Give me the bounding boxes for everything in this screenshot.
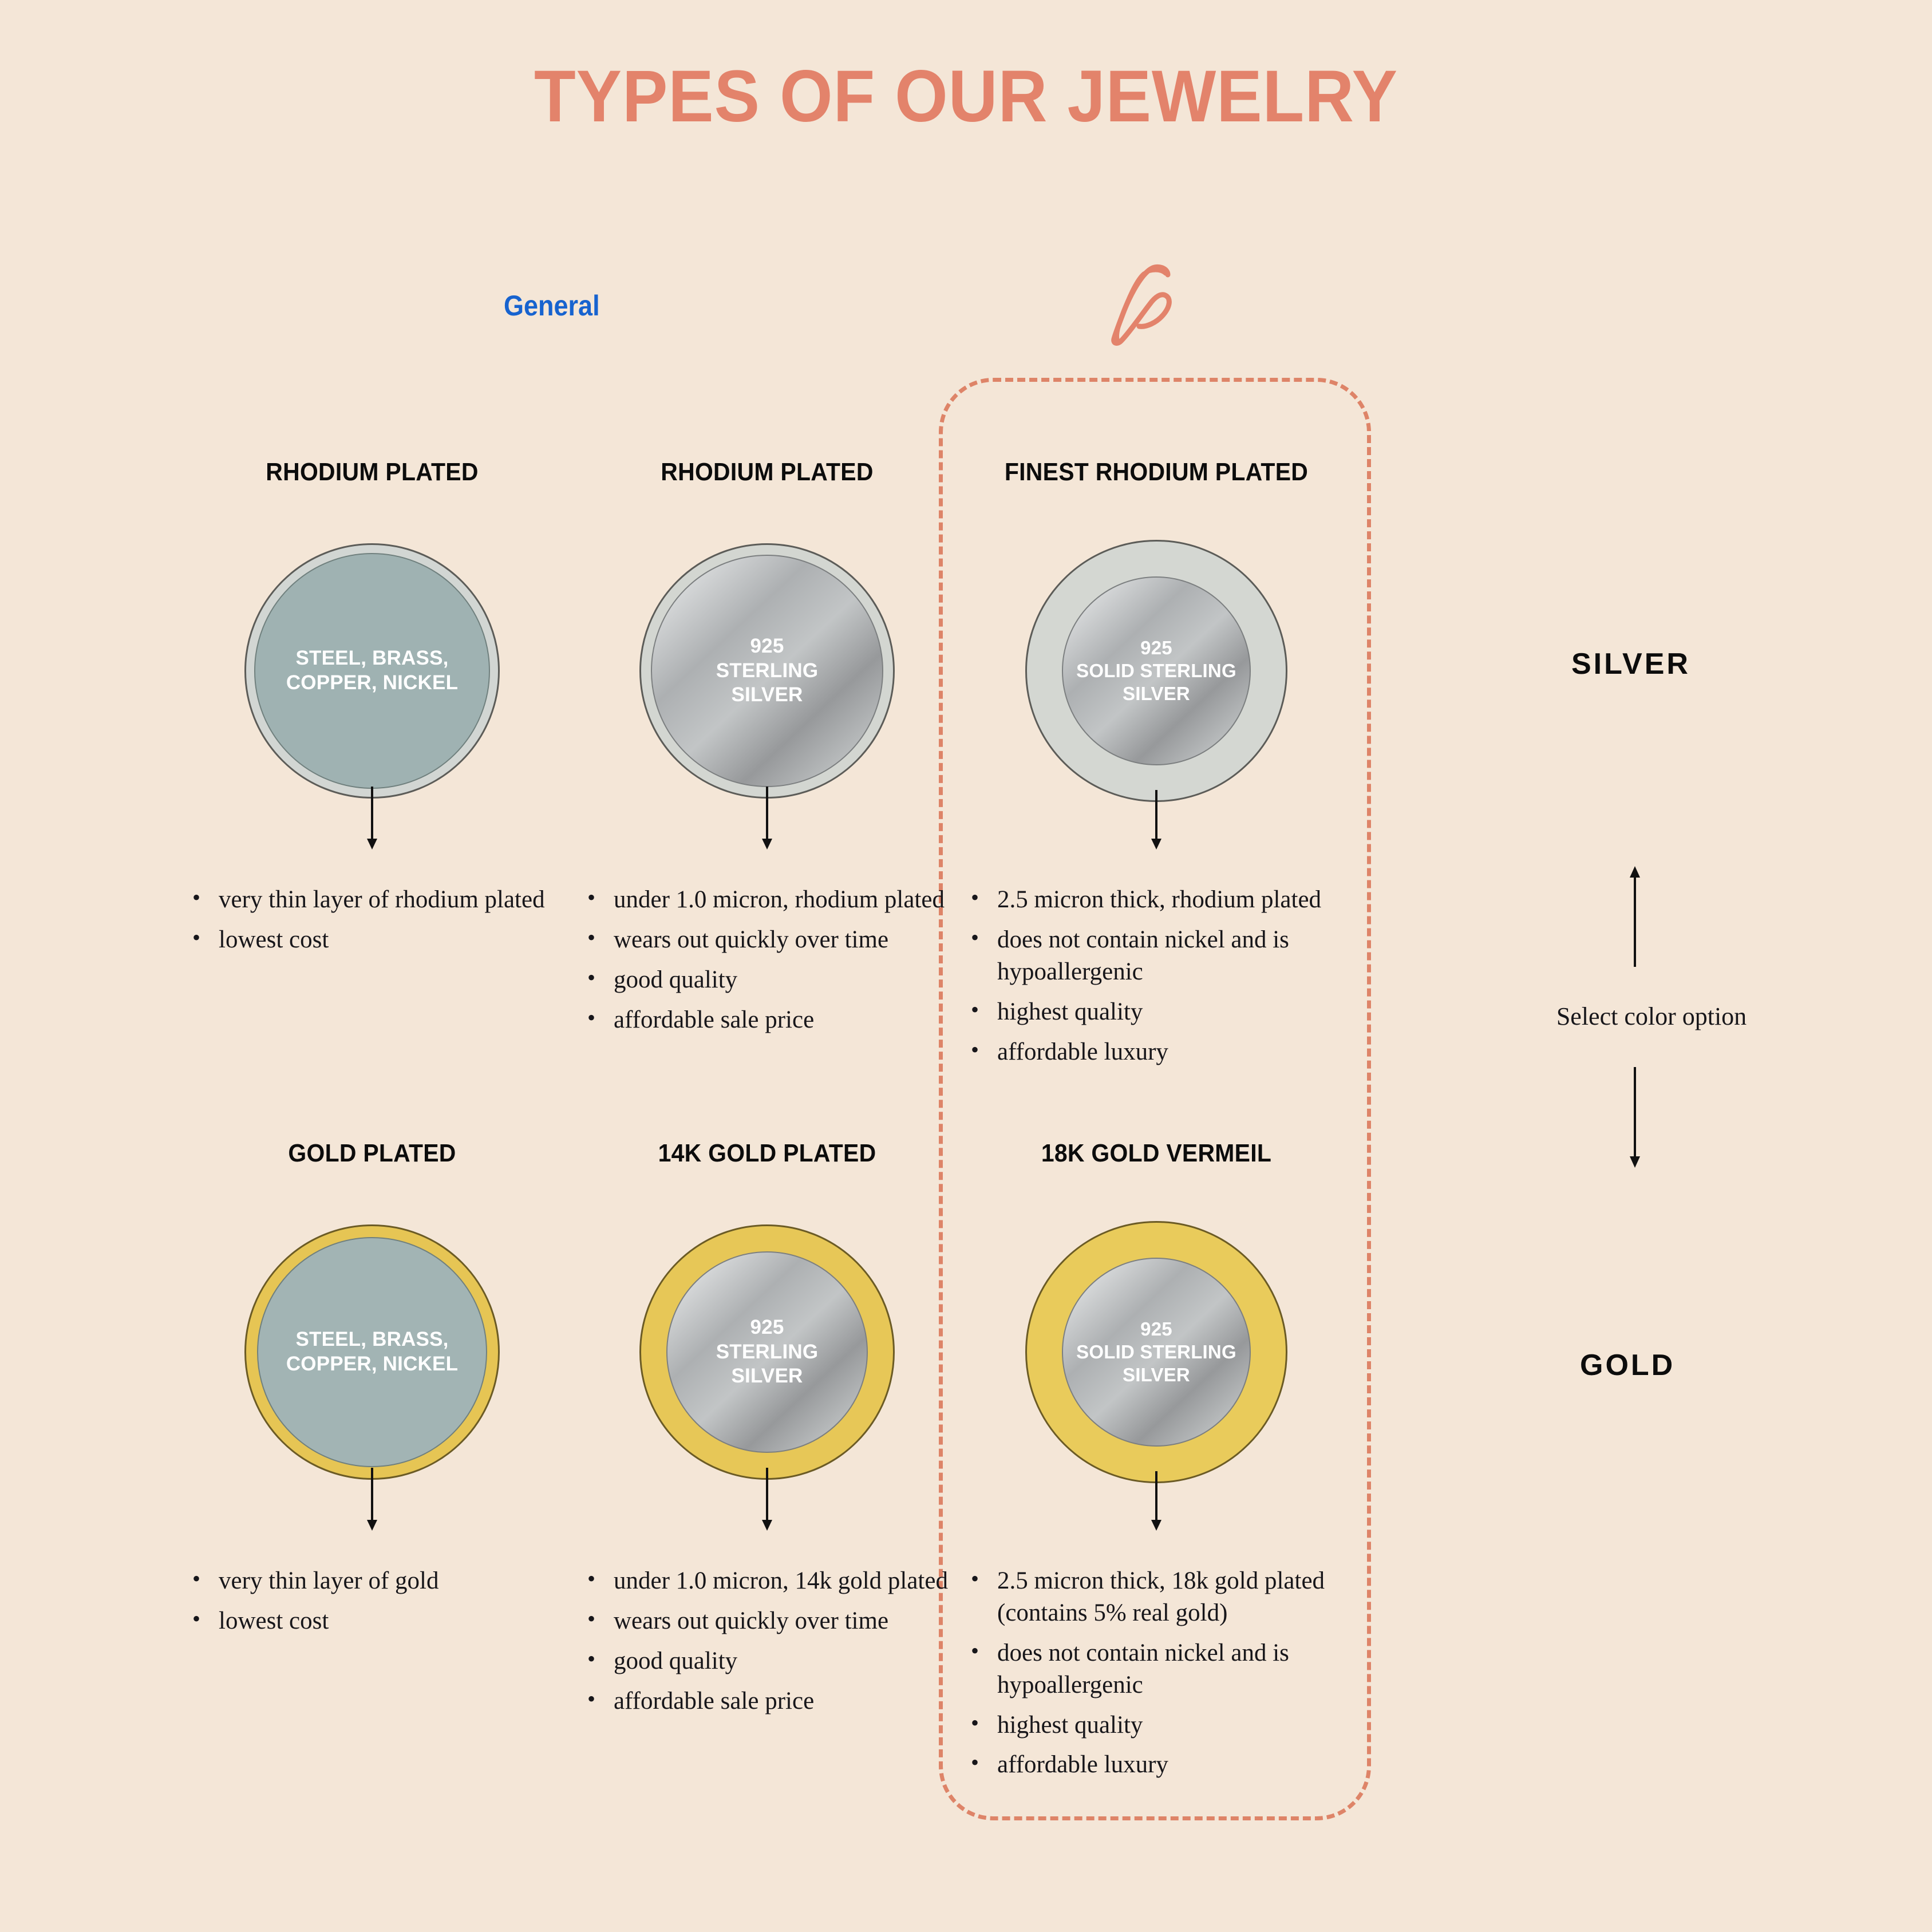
gold-plating-ring: 925 SOLID STERLING SILVER <box>1025 1221 1287 1483</box>
card-title: GOLD PLATED <box>202 1139 542 1168</box>
rhodium-plating-ring: 925 STERLING SILVER <box>639 543 895 799</box>
solid-sterling-silver-core: 925 SOLID STERLING SILVER <box>1062 1258 1251 1447</box>
connector-arrow-icon <box>756 1468 779 1535</box>
list-item: lowest cost <box>189 1605 555 1637</box>
card-general-rhodium-plated: RHODIUM PLATED STEEL, BRASS, COPPER, NIC… <box>189 458 555 964</box>
list-item: 2.5 micron thick, rhodium plated <box>967 884 1345 916</box>
base-metal-core: STEEL, BRASS, COPPER, NICKEL <box>254 553 490 789</box>
list-item: under 1.0 micron, rhodium plated <box>584 884 950 916</box>
card-general-14k-gold-plated: 14K GOLD PLATED 925 STERLING SILVER <box>584 1139 950 1725</box>
gold-plating-ring: 925 STERLING SILVER <box>639 1224 895 1480</box>
list-item: wears out quickly over time <box>584 1605 950 1637</box>
core-label: STEEL, BRASS, COPPER, NICKEL <box>286 646 458 695</box>
card-general-rhodium-plated-925: RHODIUM PLATED 925 STERLING SILVER <box>584 458 950 1044</box>
list-item: highest quality <box>967 1709 1345 1741</box>
feature-list: 2.5 micron thick, 18k gold plated (conta… <box>967 1565 1345 1781</box>
list-item: affordable luxury <box>967 1749 1345 1781</box>
gold-plating-ring: STEEL, BRASS, COPPER, NICKEL <box>244 1224 500 1480</box>
material-diagram: 925 STERLING SILVER <box>584 1209 950 1495</box>
rhodium-plating-ring: 925 SOLID STERLING SILVER <box>1025 540 1287 802</box>
list-item: affordable sale price <box>584 1004 950 1036</box>
list-item: wears out quickly over time <box>584 924 950 956</box>
list-item: very thin layer of rhodium plated <box>189 884 555 916</box>
card-brand-18k-gold-vermeil: 18K GOLD VERMEIL 925 SOLID STERLING SILV… <box>967 1139 1345 1789</box>
list-item: does not contain nickel and is hypoaller… <box>967 924 1345 988</box>
list-item: does not contain nickel and is hypoaller… <box>967 1637 1345 1701</box>
list-item: under 1.0 micron, 14k gold plated <box>584 1565 950 1597</box>
core-label: 925 STERLING SILVER <box>716 634 819 708</box>
card-title: RHODIUM PLATED <box>202 458 542 487</box>
card-general-gold-plated: GOLD PLATED STEEL, BRASS, COPPER, NICKEL… <box>189 1139 555 1645</box>
material-diagram: 925 SOLID STERLING SILVER <box>967 1209 1345 1495</box>
material-diagram: 925 STERLING SILVER <box>584 528 950 814</box>
material-diagram: STEEL, BRASS, COPPER, NICKEL <box>189 528 555 814</box>
arrow-up-icon <box>1625 866 1645 972</box>
feature-list: under 1.0 micron, rhodium plated wears o… <box>584 884 950 1036</box>
connector-arrow-icon <box>1145 1471 1168 1535</box>
core-label: STEEL, BRASS, COPPER, NICKEL <box>286 1327 458 1376</box>
feature-list: 2.5 micron thick, rhodium plated does no… <box>967 884 1345 1068</box>
feature-list: very thin layer of gold lowest cost <box>189 1565 555 1637</box>
card-title: RHODIUM PLATED <box>596 458 937 487</box>
infographic-canvas: TYPES OF OUR JEWELRY General RHODIUM PLA… <box>0 0 1932 1932</box>
page-title: TYPES OF OUR JEWELRY <box>68 54 1864 139</box>
list-item: good quality <box>584 964 950 996</box>
card-title: 18K GOLD VERMEIL <box>981 1139 1332 1168</box>
list-item: lowest cost <box>189 924 555 956</box>
base-metal-core: STEEL, BRASS, COPPER, NICKEL <box>257 1237 487 1467</box>
list-item: very thin layer of gold <box>189 1565 555 1597</box>
connector-arrow-icon <box>361 787 384 854</box>
legend-silver-label: SILVER <box>1571 647 1690 681</box>
arrow-down-icon <box>1625 1065 1645 1171</box>
connector-arrow-icon <box>361 1468 384 1535</box>
rhodium-plating-ring: STEEL, BRASS, COPPER, NICKEL <box>244 543 500 799</box>
solid-sterling-silver-core: 925 SOLID STERLING SILVER <box>1062 576 1251 765</box>
card-brand-finest-rhodium-plated: FINEST RHODIUM PLATED 925 SOLID STERLING… <box>967 458 1345 1076</box>
material-diagram: STEEL, BRASS, COPPER, NICKEL <box>189 1209 555 1495</box>
connector-arrow-icon <box>756 787 779 854</box>
feature-list: under 1.0 micron, 14k gold plated wears … <box>584 1565 950 1717</box>
card-title: 14K GOLD PLATED <box>596 1139 937 1168</box>
core-label: 925 SOLID STERLING SILVER <box>1076 637 1236 706</box>
sterling-silver-core: 925 STERLING SILVER <box>651 555 883 787</box>
list-item: highest quality <box>967 996 1345 1028</box>
connector-arrow-icon <box>1145 790 1168 854</box>
list-item: affordable luxury <box>967 1036 1345 1068</box>
card-title: FINEST RHODIUM PLATED <box>981 458 1332 487</box>
material-diagram: 925 SOLID STERLING SILVER <box>967 528 1345 814</box>
core-label: 925 STERLING SILVER <box>716 1315 819 1389</box>
legend-gold-label: GOLD <box>1580 1348 1675 1382</box>
select-color-option-label: Select color option <box>1523 1002 1780 1031</box>
script-b-monogram-icon <box>1082 263 1208 349</box>
general-group-label: General <box>504 289 600 322</box>
sterling-silver-core: 925 STERLING SILVER <box>666 1251 868 1453</box>
core-label: 925 SOLID STERLING SILVER <box>1076 1318 1236 1387</box>
list-item: good quality <box>584 1645 950 1677</box>
list-item: affordable sale price <box>584 1685 950 1717</box>
list-item: 2.5 micron thick, 18k gold plated (conta… <box>967 1565 1345 1629</box>
feature-list: very thin layer of rhodium plated lowest… <box>189 884 555 956</box>
